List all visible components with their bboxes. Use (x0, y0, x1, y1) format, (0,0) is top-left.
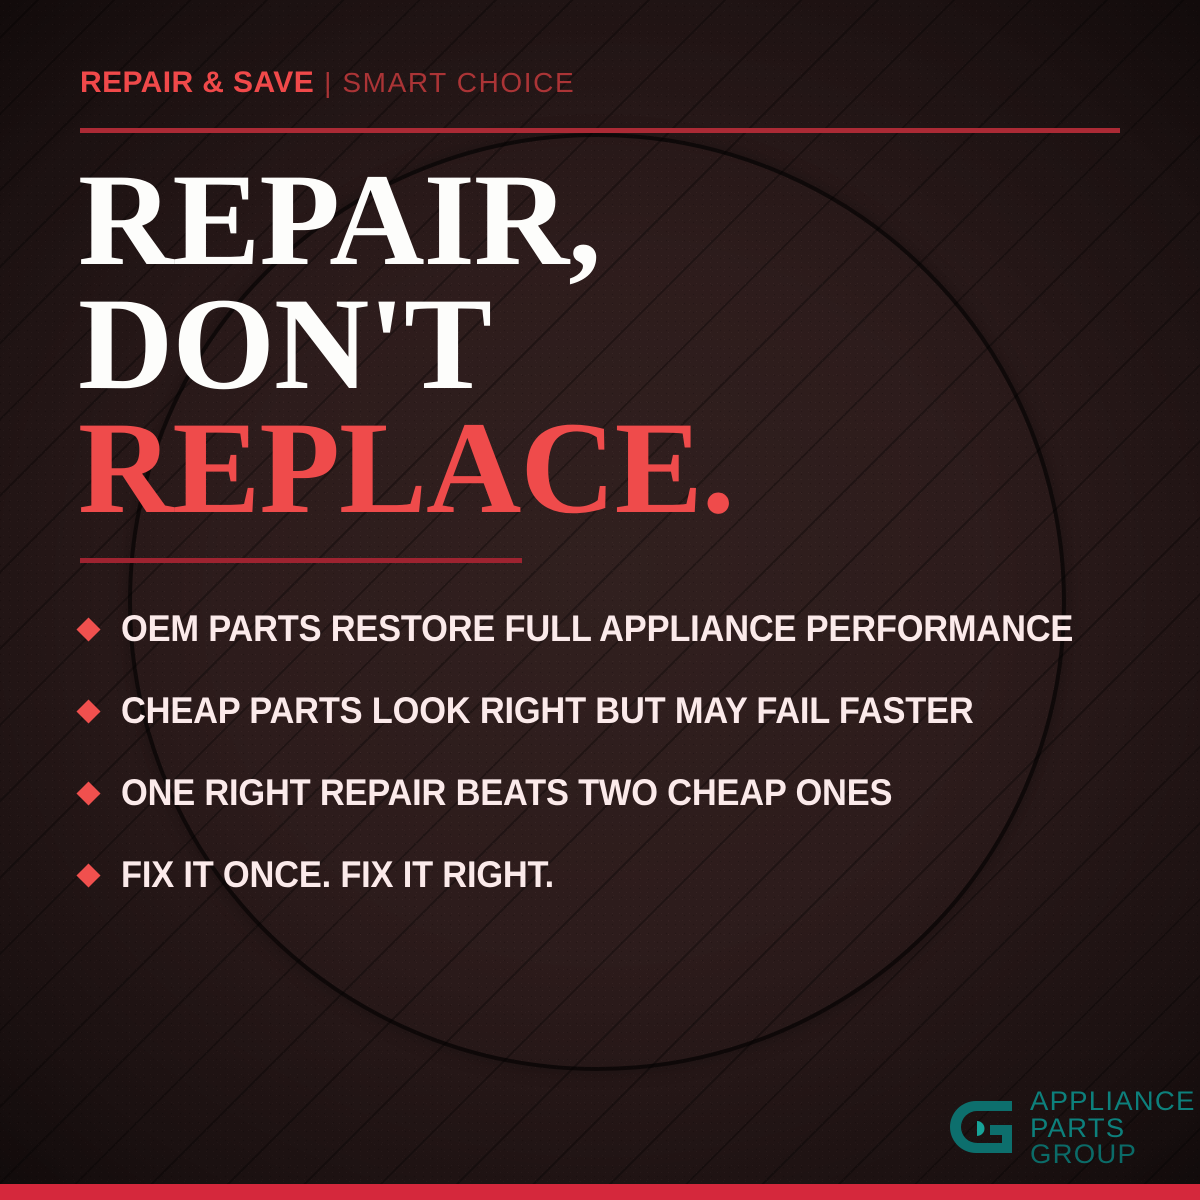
list-item-label: ONE RIGHT REPAIR BEATS TWO CHEAP ONES (121, 772, 892, 814)
promo-poster: REPAIR & SAVE| SMART CHOICE REPAIR, DON'… (0, 0, 1200, 1200)
logo-word-appliance: APPLIANCE (1030, 1088, 1196, 1115)
eyebrow-sub-label: | SMART CHOICE (324, 67, 575, 98)
list-item-label: CHEAP PARTS LOOK RIGHT BUT MAY FAIL FAST… (121, 690, 974, 732)
brand-logo-wordmark: APPLIANCE PARTS GROUP (1030, 1088, 1192, 1168)
poster-content: REPAIR & SAVE| SMART CHOICE REPAIR, DON'… (0, 0, 1200, 1200)
eyebrow: REPAIR & SAVE| SMART CHOICE (80, 68, 575, 98)
diamond-bullet-icon (76, 781, 100, 805)
eyebrow-main-label: REPAIR & SAVE (80, 66, 314, 99)
headline-line-2: DON'T (78, 282, 734, 406)
logo-word-parts: PARTS (1030, 1115, 1196, 1142)
brand-logo: APPLIANCE PARTS GROUP (946, 1088, 1192, 1168)
headline-line-3: REPLACE. (78, 406, 734, 530)
list-item: FIX IT ONCE. FIX IT RIGHT. (80, 834, 1150, 916)
list-item: ONE RIGHT REPAIR BEATS TWO CHEAP ONES (80, 752, 1150, 834)
letter-g-logomark (946, 1091, 1018, 1165)
bottom-accent-bar (0, 1184, 1200, 1200)
headline-line-1: REPAIR, (78, 158, 734, 282)
diamond-bullet-icon (76, 699, 100, 723)
header-divider (80, 128, 1120, 133)
list-item: CHEAP PARTS LOOK RIGHT BUT MAY FAIL FAST… (80, 670, 1150, 752)
benefit-list: OEM PARTS RESTORE FULL APPLIANCE PERFORM… (80, 588, 1150, 916)
headline-divider (80, 558, 522, 563)
list-item: OEM PARTS RESTORE FULL APPLIANCE PERFORM… (80, 588, 1150, 670)
headline: REPAIR, DON'T REPLACE. (78, 158, 734, 530)
diamond-bullet-icon (76, 617, 100, 641)
list-item-label: OEM PARTS RESTORE FULL APPLIANCE PERFORM… (121, 608, 1073, 650)
list-item-label: FIX IT ONCE. FIX IT RIGHT. (121, 854, 554, 896)
diamond-bullet-icon (76, 863, 100, 887)
logo-word-group: GROUP (1030, 1141, 1196, 1168)
